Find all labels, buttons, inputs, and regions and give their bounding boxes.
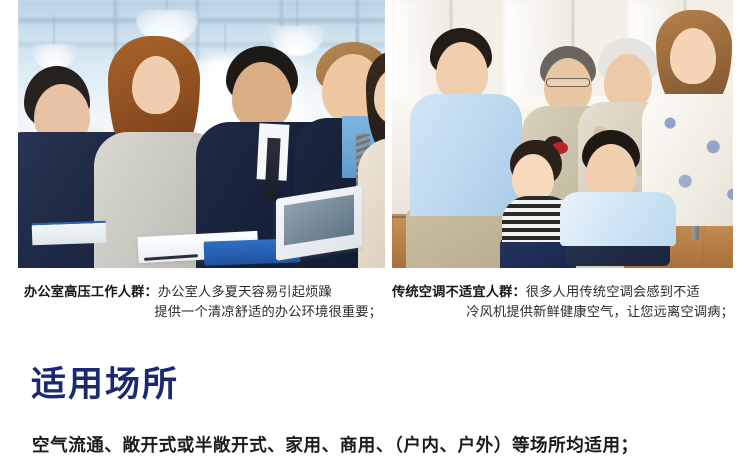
section-heading-applicable-places: 适用场所	[31, 364, 179, 406]
person-boy	[560, 130, 676, 268]
caption-line-1: 传统空调不适宜人群：很多人用传统空调会感到不适	[392, 282, 734, 302]
photo-row	[0, 0, 750, 270]
head	[670, 28, 716, 84]
caption-label: 传统空调不适宜人群：	[392, 284, 526, 299]
torso	[560, 192, 676, 246]
caption-traditional-ac: 传统空调不适宜人群：很多人用传统空调会感到不适 冷风机提供新鲜健康空气，让您远离…	[392, 282, 734, 322]
office-meeting-photo	[18, 0, 385, 268]
family-living-room-photo	[392, 0, 733, 268]
caption-line-2: 提供一个清凉舒适的办公环境很重要；	[24, 302, 382, 322]
caption-line-2: 冷风机提供新鲜健康空气，让您远离空调病；	[392, 302, 734, 322]
ceiling-beam	[18, 18, 385, 23]
head	[232, 62, 292, 130]
head	[512, 154, 554, 202]
head	[132, 56, 180, 114]
caption-label: 办公室高压工作人群：	[24, 284, 158, 299]
lamp-cord	[297, 0, 298, 26]
caption-text: 很多人用传统空调会感到不适	[526, 284, 700, 299]
captions-row: 办公室高压工作人群：办公室人多夏天容易引起烦躁 提供一个清凉舒适的办公环境很重要…	[0, 282, 750, 338]
torso	[358, 138, 385, 268]
product-detail-page: 办公室高压工作人群：办公室人多夏天容易引起烦躁 提供一个清凉舒适的办公环境很重要…	[0, 0, 750, 472]
applicable-places-note: 空气流通、敞开式或半敞开式、家用、商用、（户内、户外）等场所均适用；	[32, 432, 639, 458]
lamp-cord	[167, 0, 168, 10]
caption-text: 办公室人多夏天容易引起烦躁	[158, 284, 332, 299]
caption-office: 办公室高压工作人群：办公室人多夏天容易引起烦躁 提供一个清凉舒适的办公环境很重要…	[24, 282, 382, 322]
caption-line-1: 办公室高压工作人群：办公室人多夏天容易引起烦躁	[24, 282, 382, 302]
notebook	[32, 221, 107, 246]
head	[436, 42, 488, 102]
person-woman-right	[364, 52, 385, 268]
office-photo-content	[18, 0, 385, 268]
lamp-cord	[54, 16, 55, 44]
family-photo-content	[392, 0, 733, 268]
